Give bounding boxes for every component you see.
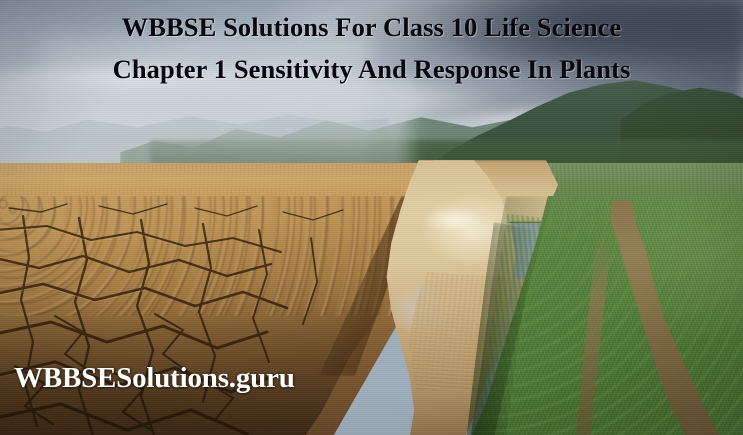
site-watermark: WBBSESolutions.guru xyxy=(14,360,295,396)
banner-image: WBBSE Solutions For Class 10 Life Scienc… xyxy=(0,0,743,435)
title-line-1: WBBSE Solutions For Class 10 Life Scienc… xyxy=(0,6,743,48)
page-title: WBBSE Solutions For Class 10 Life Scienc… xyxy=(0,6,743,90)
title-line-2: Chapter 1 Sensitivity And Response In Pl… xyxy=(0,48,743,90)
